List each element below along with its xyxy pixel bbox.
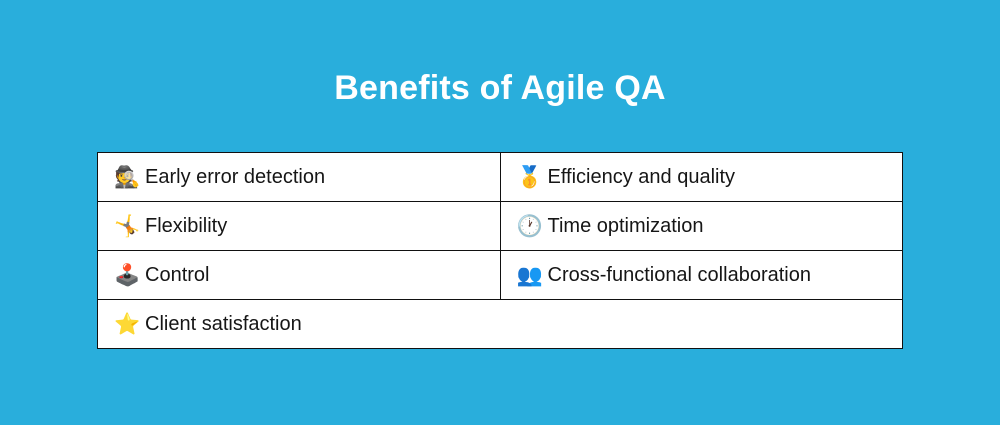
benefit-cell-early-error-detection[interactable]: 🕵️ Early error detection (98, 153, 501, 202)
table-row: ⭐ Client satisfaction (98, 300, 903, 349)
star-icon: ⭐ (114, 314, 138, 335)
benefit-cell-cross-functional-collaboration[interactable]: 👥 Cross-functional collaboration (500, 251, 903, 300)
first-place-medal-icon: 🥇 (517, 167, 541, 188)
cartwheel-person-icon: 🤸 (114, 216, 138, 237)
benefits-table-body: 🕵️ Early error detection 🥇 Efficiency an… (98, 153, 903, 349)
benefit-cell-control[interactable]: 🕹️ Control (98, 251, 501, 300)
benefit-label: Efficiency and quality (548, 165, 736, 189)
table-row: 🕹️ Control 👥 Cross-functional collaborat… (98, 251, 903, 300)
benefit-label: Early error detection (145, 165, 325, 189)
benefit-label: Control (145, 263, 209, 287)
slide-canvas: Benefits of Agile QA 🕵️ Early error dete… (0, 0, 1000, 425)
detective-icon: 🕵️ (114, 167, 138, 188)
benefit-cell-time-optimization[interactable]: 🕐 Time optimization (500, 202, 903, 251)
benefit-cell-client-satisfaction[interactable]: ⭐ Client satisfaction (98, 300, 903, 349)
table-row: 🤸 Flexibility 🕐 Time optimization (98, 202, 903, 251)
clock-icon: 🕐 (517, 216, 541, 237)
benefit-cell-efficiency-and-quality[interactable]: 🥇 Efficiency and quality (500, 153, 903, 202)
benefit-label: Flexibility (145, 214, 227, 238)
busts-in-silhouette-icon: 👥 (517, 265, 541, 286)
benefits-table: 🕵️ Early error detection 🥇 Efficiency an… (97, 152, 903, 349)
joystick-icon: 🕹️ (114, 265, 138, 286)
benefit-cell-flexibility[interactable]: 🤸 Flexibility (98, 202, 501, 251)
benefit-label: Cross-functional collaboration (548, 263, 811, 287)
benefit-label: Time optimization (548, 214, 704, 238)
page-title: Benefits of Agile QA (0, 66, 1000, 110)
table-row: 🕵️ Early error detection 🥇 Efficiency an… (98, 153, 903, 202)
benefit-label: Client satisfaction (145, 312, 302, 336)
